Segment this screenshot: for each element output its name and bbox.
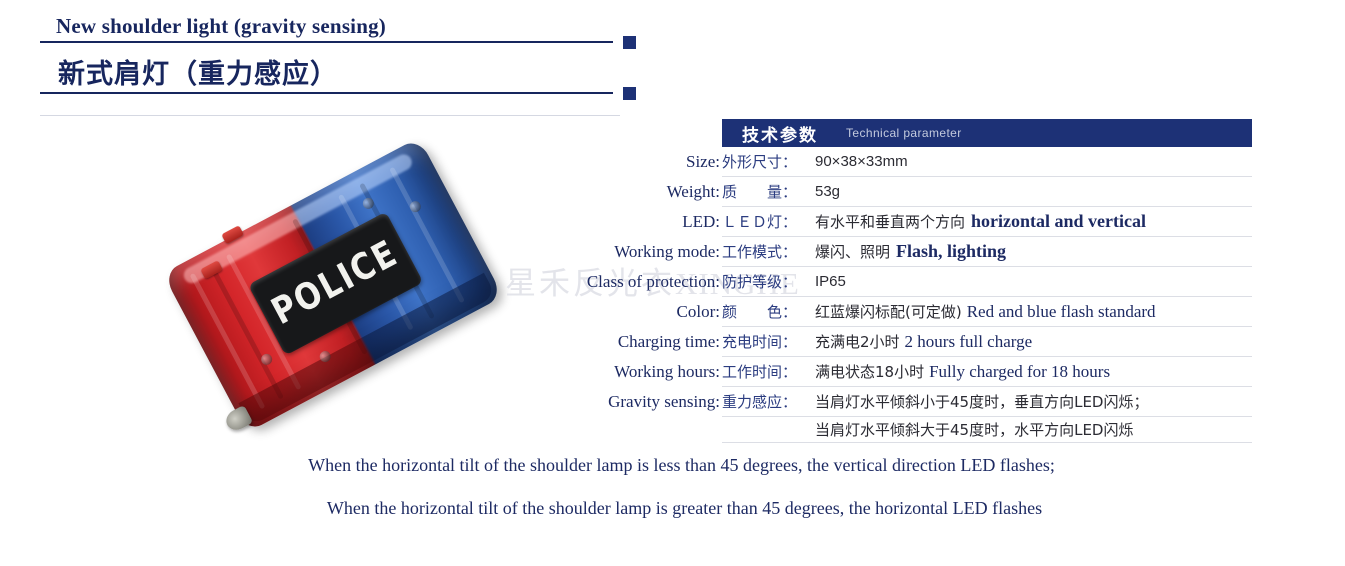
spec-label-english: LED: — [682, 212, 722, 232]
spec-value: 90×38×33mm — [815, 153, 908, 170]
shoulder-lamp-illustration: POLICE — [163, 137, 504, 432]
spec-label-english: Weight: — [667, 182, 722, 202]
spec-value: 满电状态18小时Fully charged for 18 hours — [815, 361, 1110, 382]
spec-row-working-mode: Working mode: 工作模式： 爆闪、照明Flash, lighting — [722, 237, 1252, 267]
spec-row-gravity-sensing-continued: 当肩灯水平倾斜大于45度时，水平方向LED闪烁 — [722, 417, 1252, 443]
note-line-1: When the horizontal tilt of the shoulder… — [18, 455, 1345, 476]
spec-value-chinese: 红蓝爆闪标配(可定做) — [815, 303, 962, 321]
decorative-square-icon — [623, 87, 636, 100]
spec-value: 当肩灯水平倾斜小于45度时，垂直方向LED闪烁； — [815, 391, 1148, 412]
spec-value: 红蓝爆闪标配(可定做)Red and blue flash standard — [815, 301, 1156, 322]
spec-label-english: Gravity sensing: — [608, 392, 722, 412]
spec-value: 当肩灯水平倾斜大于45度时，水平方向LED闪烁 — [815, 419, 1133, 440]
spec-label-english: Class of protection: — [587, 272, 722, 292]
spec-value-english: 2 hours full charge — [905, 332, 1033, 351]
spec-value: 爆闪、照明Flash, lighting — [815, 241, 1006, 262]
spec-label-chinese: 工作模式： — [722, 241, 815, 262]
spec-label-chinese: 颜 色： — [722, 301, 815, 322]
spec-header-english: Technical parameter — [846, 126, 962, 140]
product-image: POLICE — [150, 133, 500, 443]
spec-value-chinese: 充满电2小时 — [815, 333, 900, 351]
spec-row-weight: Weight: 质 量： 53g — [722, 177, 1252, 207]
spec-header-chinese: 技术参数 — [742, 121, 818, 146]
spec-value-english: horizontal and vertical — [971, 211, 1146, 231]
spec-row-gravity-sensing: Gravity sensing: 重力感应： 当肩灯水平倾斜小于45度时，垂直方… — [722, 387, 1252, 417]
spec-row-charging-time: Charging time: 充电时间： 充满电2小时2 hours full … — [722, 327, 1252, 357]
spec-value: IP65 — [815, 273, 846, 290]
spec-label-english: Color: — [677, 302, 722, 322]
spec-row-color: Color: 颜 色： 红蓝爆闪标配(可定做)Red and blue flas… — [722, 297, 1252, 327]
spec-row-size: Size: 外形尺寸： 90×38×33mm — [722, 147, 1252, 177]
spec-value-english: Red and blue flash standard — [967, 302, 1156, 321]
spec-label-english: Charging time: — [618, 332, 722, 352]
bottom-notes: When the horizontal tilt of the shoulder… — [0, 455, 1345, 519]
page-title-english: New shoulder light (gravity sensing) — [56, 14, 386, 39]
technical-parameter-panel: 技术参数 Technical parameter Size: 外形尺寸： 90×… — [722, 119, 1252, 443]
spec-label-english: Size: — [686, 152, 722, 172]
spec-label-chinese: 工作时间： — [722, 361, 815, 382]
spec-label-english: Working hours: — [614, 362, 722, 382]
spec-label-chinese: 充电时间： — [722, 331, 815, 352]
spec-label-english: Working mode: — [614, 242, 722, 262]
spec-label-chinese: 质 量： — [722, 181, 815, 202]
spec-label-chinese: 防护等级： — [722, 271, 815, 292]
spec-label-chinese: 重力感应： — [722, 391, 815, 412]
decorative-square-icon — [623, 36, 636, 49]
header-rule-middle — [40, 92, 613, 94]
technical-parameter-header: 技术参数 Technical parameter — [722, 119, 1252, 147]
spec-value-english: Fully charged for 18 hours — [929, 362, 1110, 381]
spec-label-chinese: ＬＥＤ灯： — [722, 211, 815, 232]
police-label-text: POLICE — [267, 235, 405, 331]
spec-label-chinese: 外形尺寸： — [722, 151, 815, 172]
spec-row-led: LED: ＬＥＤ灯： 有水平和垂直两个方向horizontal and vert… — [722, 207, 1252, 237]
note-line-2: When the horizontal tilt of the shoulder… — [24, 498, 1345, 519]
spec-value-english: Flash, lighting — [896, 241, 1006, 261]
header-rule-light — [40, 115, 620, 116]
lamp-housing: POLICE — [163, 137, 504, 432]
spec-row-working-hours: Working hours: 工作时间： 满电状态18小时Fully charg… — [722, 357, 1252, 387]
spec-value-chinese: 有水平和垂直两个方向 — [815, 213, 965, 231]
spec-value: 53g — [815, 183, 840, 200]
header-rule-top — [40, 41, 613, 43]
page-title-chinese: 新式肩灯（重力感应） — [58, 52, 338, 91]
spec-value: 有水平和垂直两个方向horizontal and vertical — [815, 211, 1146, 232]
spec-row-protection-class: Class of protection: 防护等级： IP65 — [722, 267, 1252, 297]
page-header: New shoulder light (gravity sensing) 新式肩… — [0, 0, 700, 120]
spec-value-chinese: 满电状态18小时 — [815, 363, 924, 381]
spec-value: 充满电2小时2 hours full charge — [815, 331, 1032, 352]
spec-value-chinese: 爆闪、照明 — [815, 243, 890, 261]
